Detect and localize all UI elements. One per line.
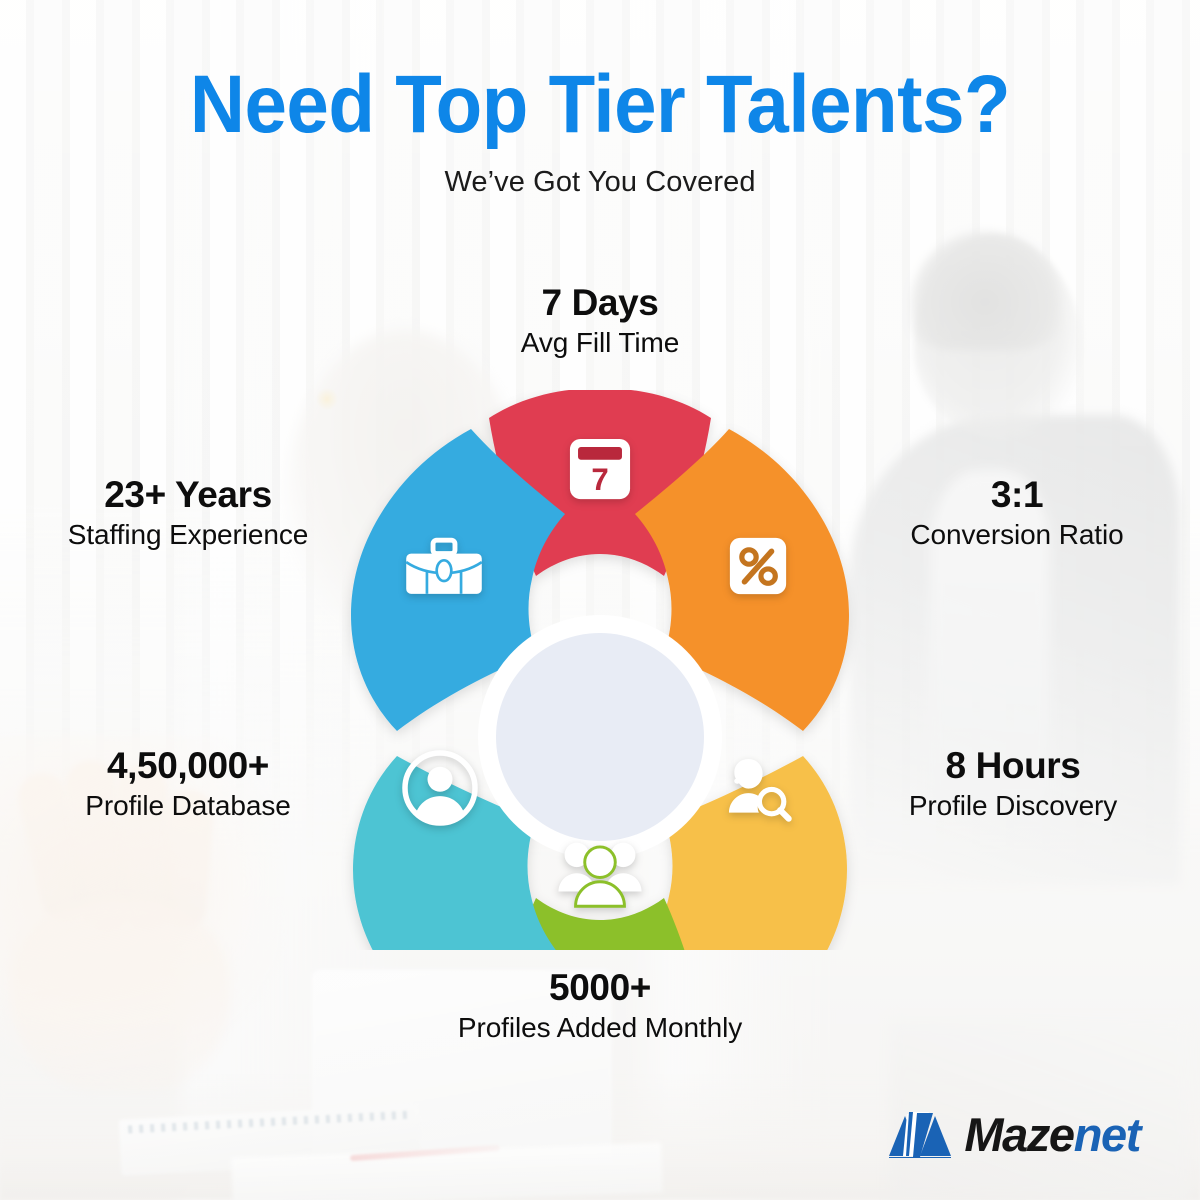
stat-value: 5000+ <box>398 966 802 1010</box>
mazenet-logo: Mazenet <box>889 1110 1140 1158</box>
stat-label: Profile Database <box>22 788 354 824</box>
background-palm <box>10 900 230 1090</box>
stat-label: Conversion Ratio <box>852 517 1182 553</box>
infographic-poster: Need Top Tier Talents? We’ve Got You Cov… <box>0 0 1200 1200</box>
stat-staffing-experience: 23+ Years Staffing Experience <box>22 473 354 552</box>
stat-value: 8 Hours <box>852 744 1174 788</box>
page-title: Need Top Tier Talents? <box>42 64 1158 146</box>
stat-label: Profiles Added Monthly <box>398 1010 802 1046</box>
wheel-hub <box>496 633 704 841</box>
stat-value: 23+ Years <box>22 473 354 517</box>
stat-profiles-added-monthly: 5000+ Profiles Added Monthly <box>398 966 802 1045</box>
stat-profile-database: 4,50,000+ Profile Database <box>22 744 354 823</box>
stat-label: Staffing Experience <box>22 517 354 553</box>
hexagon-petal-wheel: 7 <box>308 390 892 950</box>
poster-header: Need Top Tier Talents? We’ve Got You Cov… <box>0 64 1200 199</box>
mazenet-m-mark-icon <box>889 1110 951 1158</box>
calendar-7-icon: 7 <box>563 432 637 506</box>
person-search-icon <box>718 748 796 826</box>
stat-label: Profile Discovery <box>852 788 1174 824</box>
stat-label: Avg Fill Time <box>398 325 802 361</box>
user-circle-icon <box>400 748 480 828</box>
stat-conversion-ratio: 3:1 Conversion Ratio <box>852 473 1182 552</box>
calendar-day-number: 7 <box>591 462 608 497</box>
briefcase-icon <box>400 528 488 606</box>
stat-profile-discovery: 8 Hours Profile Discovery <box>852 744 1174 823</box>
background-man-hair <box>910 230 1060 350</box>
logo-text-primary: Maze <box>964 1108 1073 1161</box>
people-group-icon <box>556 832 644 912</box>
logo-wordmark: Mazenet <box>964 1111 1140 1158</box>
stat-value: 3:1 <box>852 473 1182 517</box>
stat-avg-fill-time: 7 Days Avg Fill Time <box>398 281 802 360</box>
page-subtitle: We’ve Got You Covered <box>0 166 1200 199</box>
stat-value: 7 Days <box>398 281 802 325</box>
logo-text-accent: net <box>1074 1108 1140 1161</box>
stat-value: 4,50,000+ <box>22 744 354 788</box>
percent-icon <box>722 530 794 602</box>
